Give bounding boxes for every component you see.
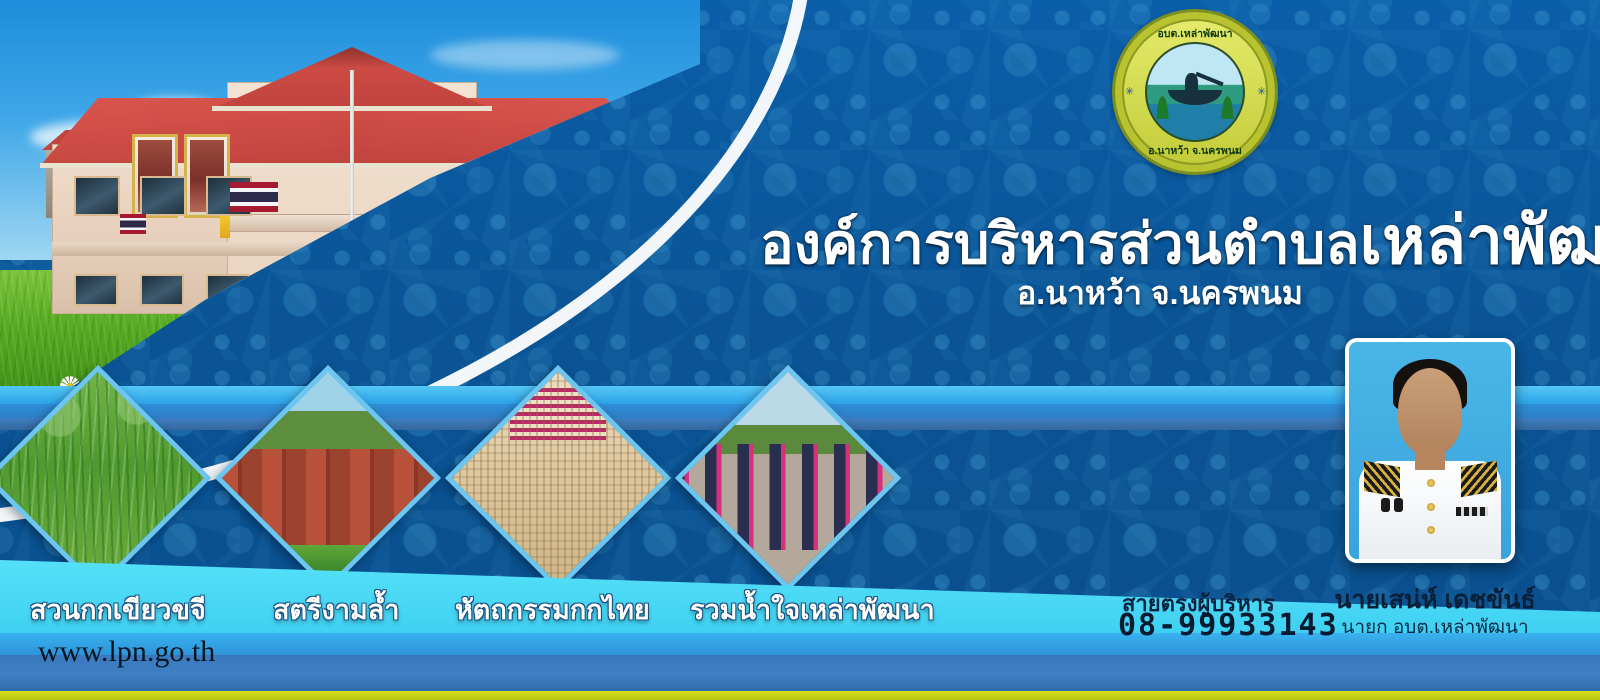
caption-sedge-garden: สวนกกเขียวขจี — [30, 588, 206, 631]
org-location: อ.นาหว้า จ.นครพนม — [760, 268, 1560, 319]
seal-scene — [1145, 42, 1245, 142]
mayor-portrait-photo — [1345, 338, 1515, 563]
thai-flag-icon — [120, 214, 146, 234]
thai-flag-icon — [230, 182, 278, 212]
footer-band-blue — [0, 655, 1600, 691]
caption-traditional-dance-parade: รวมน้ำใจเหล่าพัฒนา — [690, 588, 935, 631]
medal-icon — [1394, 498, 1403, 512]
reed-plant-icon — [1155, 90, 1170, 119]
site-banner: องค์การบริหารส่วนตำบลเหล่าพัฒนา อ.นาหว้า… — [0, 0, 1600, 700]
star-icon: ✳ — [1125, 88, 1133, 96]
seal-text-top: อบต.เหล่าพัฒนา — [1115, 25, 1275, 42]
uniform-button — [1427, 479, 1435, 487]
epaulette-right — [1461, 460, 1497, 497]
uniform-button — [1427, 503, 1435, 511]
mayor-role: นายก อบต.เหล่าพัฒนา — [1300, 612, 1570, 642]
caption-thai-women-group: สตรีงามล้ำ — [273, 588, 399, 631]
reed-plant-icon — [1220, 90, 1235, 119]
window — [74, 274, 118, 306]
seal-text-bottom: อ.นาหว้า จ.นครพนม — [1115, 142, 1275, 159]
window — [140, 274, 184, 306]
org-name-main: เหล่าพัฒนา — [1360, 203, 1600, 277]
website-url[interactable]: www.lpn.go.th — [38, 635, 215, 669]
footer-band-green — [0, 691, 1600, 700]
oar-icon — [1195, 71, 1223, 85]
organization-seal-logo[interactable]: อบต.เหล่าพัฒนา อ.นาหว้า จ.นครพนม ✳ ✳ — [1115, 12, 1275, 172]
royal-yellow-flag-icon — [220, 216, 230, 238]
window — [74, 176, 120, 216]
service-ribbon-bar — [1456, 507, 1488, 516]
neck — [1415, 444, 1444, 470]
epaulette-left — [1364, 460, 1400, 497]
face — [1398, 368, 1463, 455]
window — [140, 176, 186, 216]
org-name-prefix: องค์การบริหารส่วนตำบล — [760, 212, 1360, 275]
star-icon: ✳ — [1257, 88, 1265, 96]
medal-icon — [1381, 498, 1390, 512]
caption-sedge-handicraft: หัตถกรรมกกไทย — [455, 588, 650, 631]
